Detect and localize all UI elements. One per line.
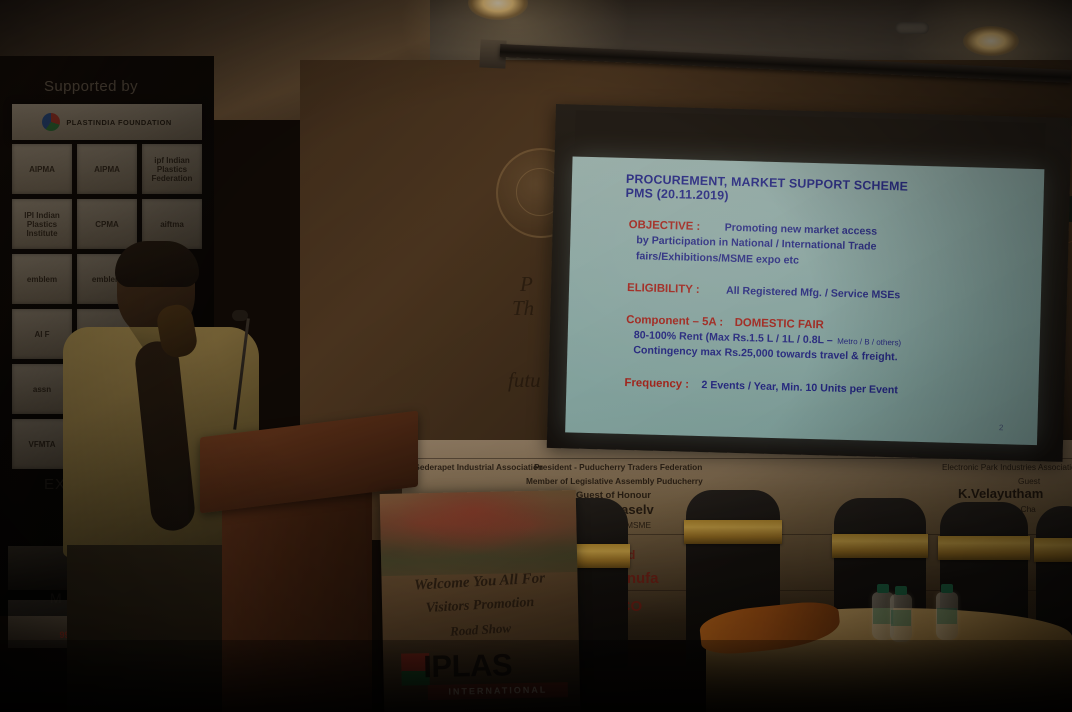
iplas-logo-sub-text: INTERNATIONAL [428,682,568,700]
backdrop-line-guest: Guest [1018,476,1040,486]
wall-script-1: P [520,272,533,297]
sponsor-banner-title: Supported by [44,78,138,95]
backdrop-line-electronic-park: Electronic Park Industries Association T [942,462,1072,472]
ceiling-vent [895,22,929,34]
slide-objective-block: OBJECTIVE : Promoting new market access … [628,217,1027,274]
slide-contingency-line: Contingency max Rs.25,000 towards travel… [633,345,898,366]
plastindia-foundation-bar: PLASTINDIA FOUNDATION [12,104,202,140]
bottle-label-2 [891,610,911,626]
floral-decoration [380,490,581,576]
slide-eligibility-block: ELIGIBILITY : All Registered Mfg. / Serv… [627,280,1025,306]
wall-script-3 [512,330,517,355]
banner-welcome-line3: Road Show [382,617,579,644]
chair-sash-3 [832,534,928,558]
slide-component-block: Component – 5A : DOMESTIC FAIR 80-100% R… [625,312,1024,369]
slide-eligibility-label: ELIGIBILITY : [627,282,700,297]
downlight-icon-2 [963,26,1019,56]
bottle-cap-2 [895,586,907,595]
slide-frequency-label: Frequency : [624,377,689,392]
microphone-icon [232,310,248,321]
speaker-hair [115,241,199,287]
backdrop-line-president: President - Puducherry Traders Federatio… [534,462,702,472]
iplas-logo: IPLAS INTERNATIONAL [401,646,570,690]
water-bottle-2 [890,594,912,642]
iplas-logo-text: IPLAS [423,647,513,685]
sponsor-logo-cell: AIPMA [77,144,137,194]
bottle-cap-1 [877,584,889,593]
bottle-cap-3 [941,584,953,593]
slide-eligibility-text: All Registered Mfg. / Service MSEs [726,285,901,303]
water-bottle-3 [936,592,958,640]
wall-script-4: futu [508,368,541,393]
slide-objective-line3: fairs/Exhibitions/MSME expo etc [636,250,799,268]
projection-screen-frame: PROCUREMENT, MARKET SUPPORT SCHEME PMS (… [547,104,1072,462]
wall-script-2: Th [512,296,534,321]
chair-sash-4 [938,536,1030,560]
bottle-label-3 [937,608,957,624]
plastindia-logo-icon [42,113,60,131]
sponsor-logo-cell: AIPMA [12,144,72,194]
slide-frequency-value: 2 Events / Year, Min. 10 Units per Event [701,379,898,398]
iplas-logo-subbar: INTERNATIONAL [428,682,568,700]
slide-frequency-block: Frequency : 2 Events / Year, Min. 10 Uni… [624,375,1022,401]
conference-room-photo: P Th futu APPTMA & Sederapet Industrial … [0,0,1072,712]
sponsor-logo-cell: CPMA [77,199,137,249]
slide-page-number: 2 [999,423,1004,432]
backdrop-line-mla: Member of Legislative Assembly Puducherr… [526,476,703,486]
podium-welcome-banner: Welcome You All For Visitors Promotion R… [380,490,581,712]
podium-body [222,486,372,712]
backdrop-name-velayutham: K.Velayutham [958,486,1043,501]
banner-welcome-line2: Visitors Promotion [382,593,579,620]
backdrop-line-sederapet: & Sederapet Industrial Association [406,462,543,472]
plastindia-foundation-label: PLASTINDIA FOUNDATION [66,118,171,127]
sponsor-logo-cell: ipf Indian Plastics Federation [142,144,202,194]
chair-sash-2 [684,520,782,544]
slide-rent-small: Metro / B / others) [837,337,901,348]
sponsor-logo-cell: IPI Indian Plastics Institute [12,199,72,249]
chair-sash-5 [1034,538,1072,562]
projected-slide: PROCUREMENT, MARKET SUPPORT SCHEME PMS (… [565,156,1044,445]
